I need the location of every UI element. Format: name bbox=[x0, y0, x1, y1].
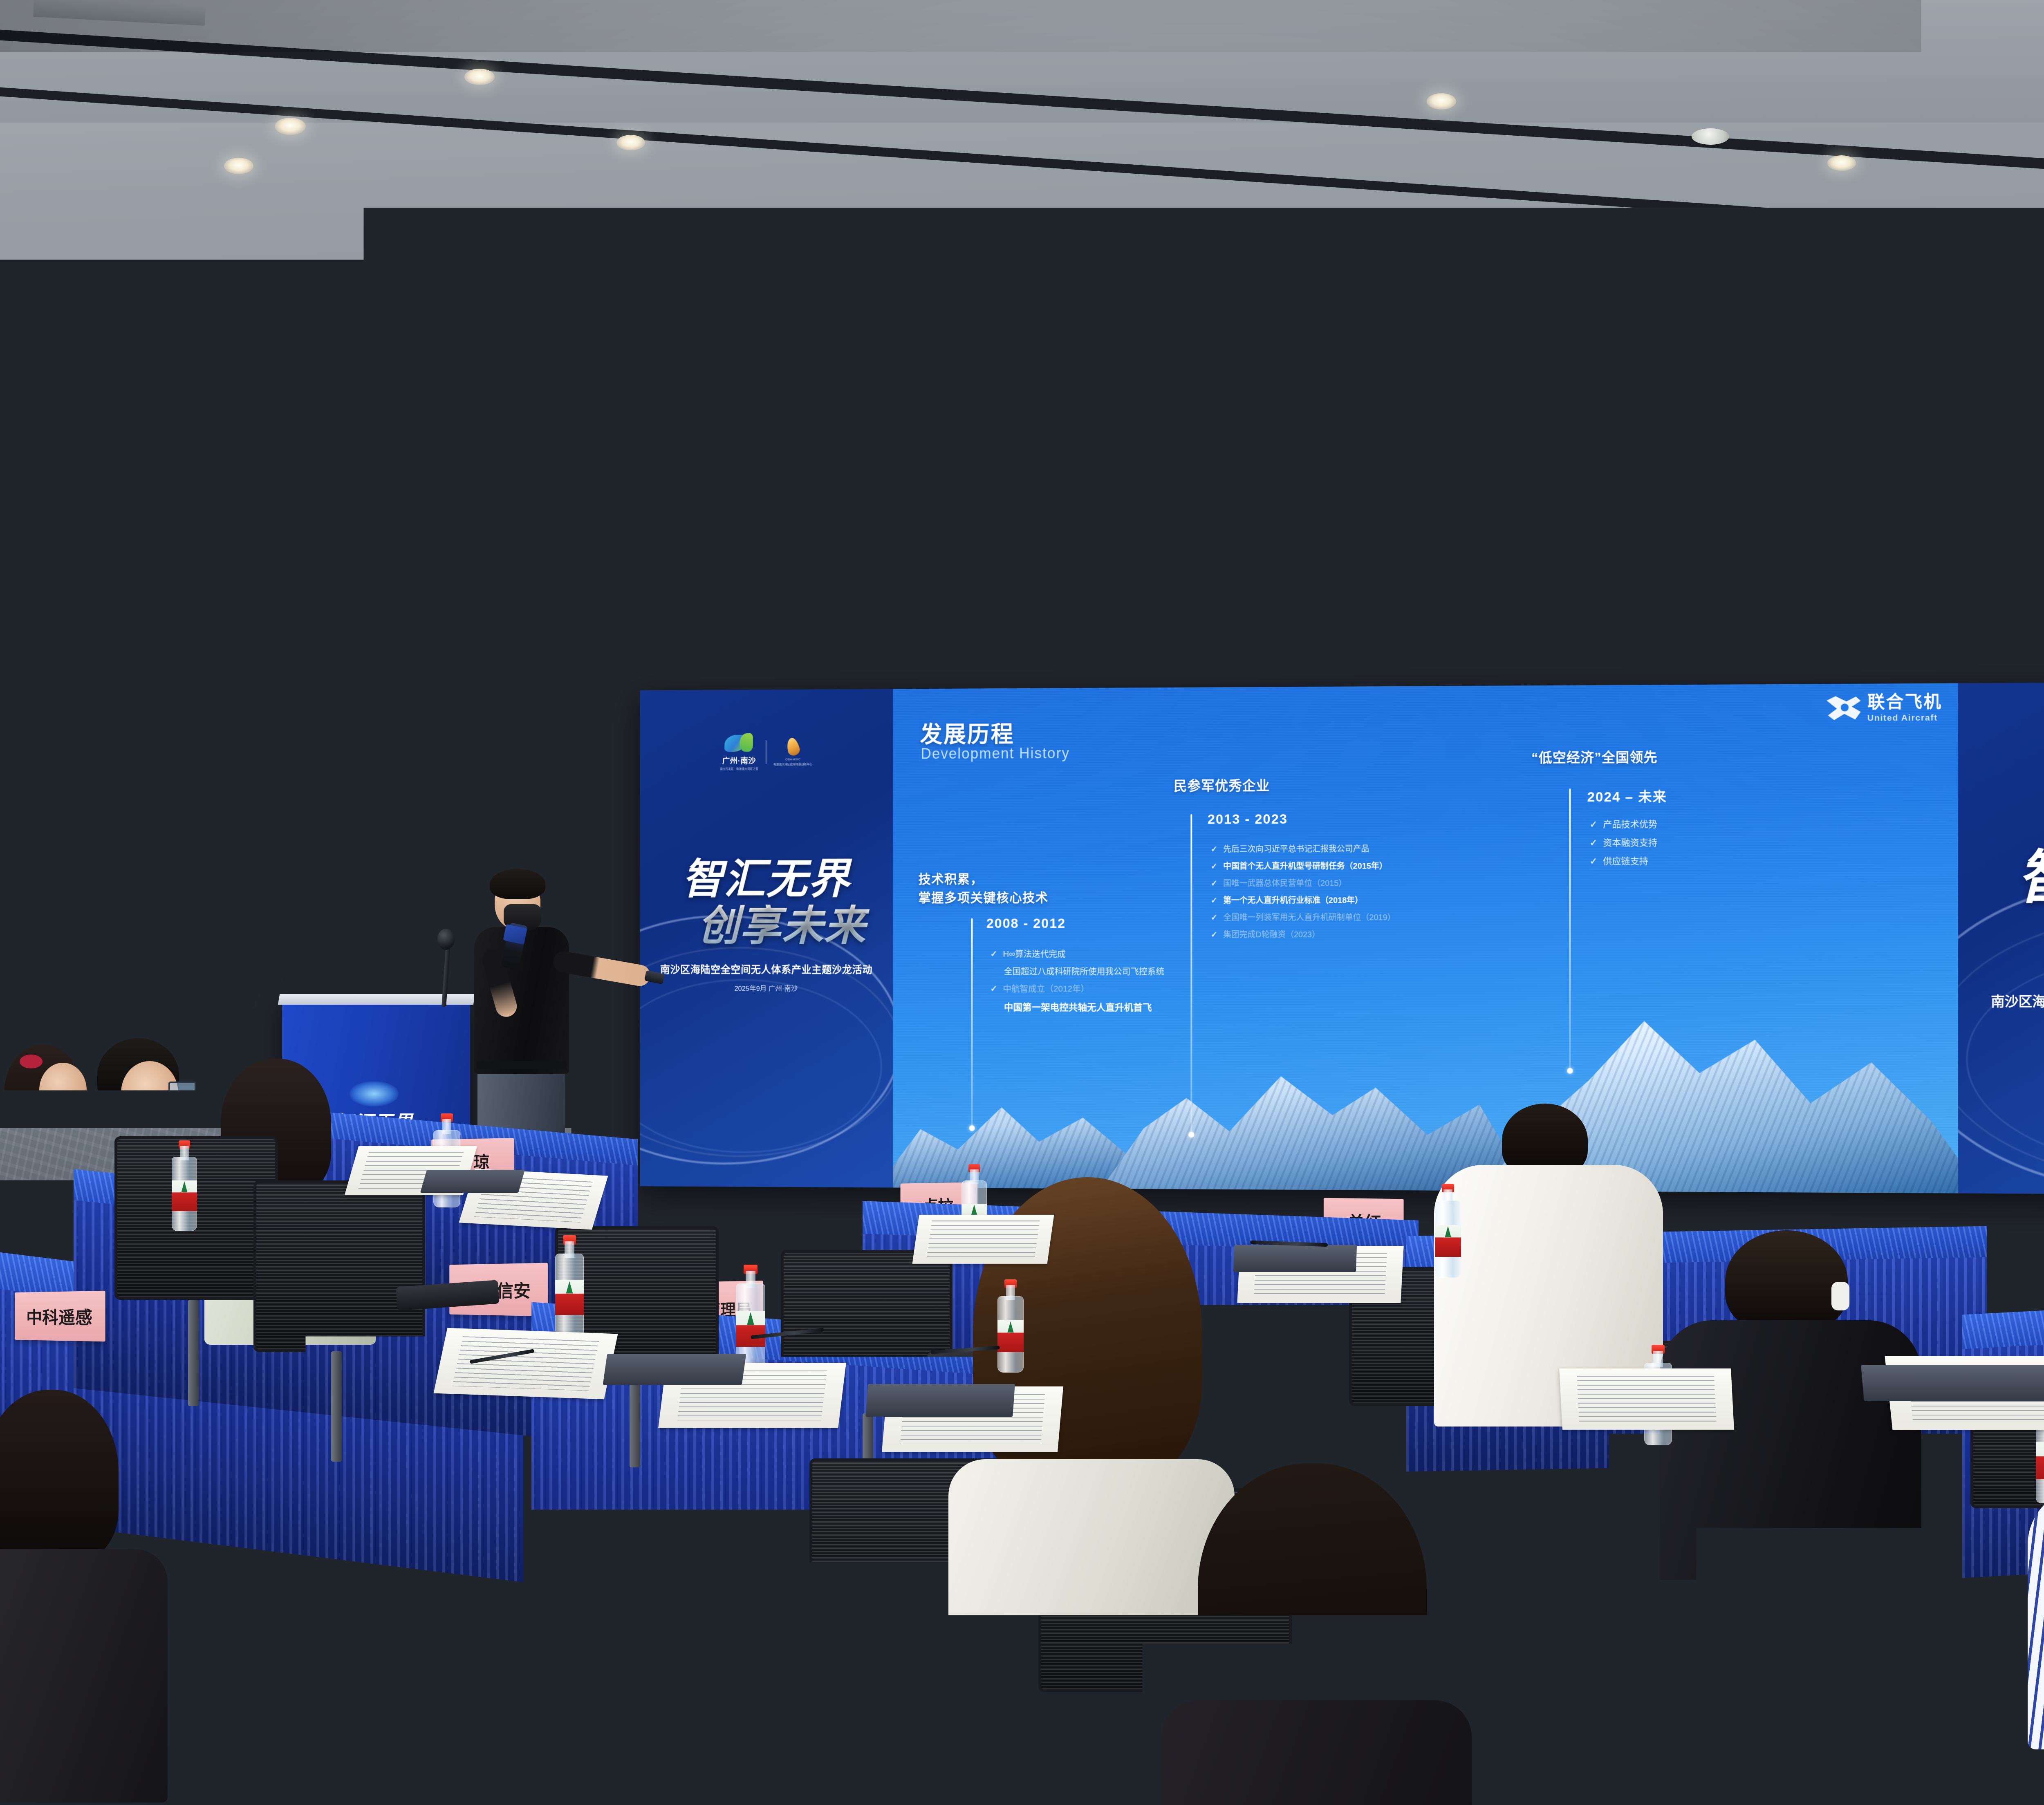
banner-title-line1: 智汇无界 bbox=[640, 858, 893, 900]
smoke-detector-icon bbox=[522, 414, 555, 428]
downlight-icon bbox=[224, 158, 253, 174]
banner-title-line2: 创享未来 bbox=[1958, 912, 2044, 971]
bullet-item: ✓产品技术优势 bbox=[1590, 817, 1657, 831]
column-2-year-range: 2013 - 2023 bbox=[1208, 811, 1288, 827]
ua-logo-cn: 联合飞机 bbox=[1867, 693, 1942, 711]
folder bbox=[420, 1170, 525, 1193]
check-icon: ✓ bbox=[1211, 878, 1218, 889]
check-icon: ✓ bbox=[1211, 861, 1218, 871]
presenter-belt bbox=[477, 1061, 567, 1069]
presentation-slide: 联合飞机 United Aircraft 发展历程 Development Hi… bbox=[893, 683, 1958, 1193]
water-bottle bbox=[997, 1279, 1024, 1373]
gba-logo-en: GBA-ASIC bbox=[785, 757, 800, 761]
folder bbox=[1233, 1245, 1357, 1272]
downlight-icon bbox=[464, 69, 495, 85]
water-bottle bbox=[555, 1235, 584, 1337]
downlight-icon bbox=[341, 291, 368, 305]
water-bottle bbox=[1304, 1324, 1331, 1422]
nansha-logo-sublabel: 南沙开发区 · 粤港澳大湾区之窗 bbox=[720, 767, 758, 771]
slide-title-en: Development History bbox=[921, 745, 1069, 762]
downlight-icon bbox=[1427, 93, 1456, 110]
conference-room-photo: 广州·南沙 南沙开发区 · 粤港澳大湾区之窗 GBA-ASIC 粤港澳大湾区应用… bbox=[0, 0, 2044, 1805]
presenter-hair bbox=[490, 869, 545, 899]
check-icon: ✓ bbox=[1211, 912, 1218, 923]
led-video-wall: 广州·南沙 南沙开发区 · 粤港澳大湾区之窗 GBA-ASIC 粤港澳大湾区应用… bbox=[640, 681, 2044, 1195]
banner-subtitle: 南沙区海陆空全空间无人体系产业主题沙龙活动 bbox=[640, 962, 893, 976]
nansha-logo-label: 广州·南沙 bbox=[722, 755, 756, 766]
downlight-icon bbox=[2010, 450, 2033, 462]
microphone-head-icon bbox=[437, 929, 455, 950]
gba-logo-cn: 粤港澳大湾区应用场景创新中心 bbox=[773, 762, 812, 766]
document bbox=[434, 1328, 618, 1400]
smoke-detector-icon bbox=[260, 441, 295, 456]
watermark: 羊城 bbox=[2038, 1435, 2044, 1778]
bullet-item: ✓集团完成D轮融资（2023） bbox=[1211, 928, 1396, 940]
gba-asic-logo: GBA-ASIC 粤港澳大湾区应用场景创新中心 bbox=[773, 737, 812, 766]
bullet-item: 中国第一架电控共轴无人直升机首飞 bbox=[991, 999, 1165, 1013]
banner-date-location: 2025年9月 广州·南沙 bbox=[1958, 1019, 2044, 1032]
downlight-icon bbox=[275, 118, 306, 135]
watermark-frame bbox=[2038, 1435, 2044, 1778]
bullet-item: ✓中航智成立（2012年） bbox=[991, 982, 1165, 994]
banner-title-line1: 智汇无界 bbox=[1958, 848, 2044, 907]
water-bottle bbox=[172, 1140, 197, 1231]
downlight-icon bbox=[1827, 155, 1856, 171]
nansha-logo: 广州·南沙 南沙开发区 · 粤港澳大湾区之窗 bbox=[720, 733, 758, 771]
column-1-bullets: ✓H∞算法迭代完成 全国超过八成科研院所使用我公司飞控系统 ✓中航智成立（201… bbox=[991, 947, 1165, 1019]
column-1-year-range: 2008 - 2012 bbox=[986, 916, 1066, 931]
column-3-heading: “低空经济”全国领先 bbox=[1531, 746, 1658, 766]
bullet-item: ✓资本融资支持 bbox=[1590, 835, 1657, 849]
column-2-bullets: ✓先后三次向习近平总书记汇报我公司产品 ✓中国首个无人直升机型号研制任务（201… bbox=[1211, 842, 1396, 945]
event-banner-right: 广州·南沙 南沙开发区 · 粤港澳大湾区之窗 GBA-ASIC 粤港澳大湾区应用… bbox=[1958, 681, 2044, 1195]
bullet-item: ✓第一个无人直升机行业标准（2018年） bbox=[1211, 894, 1396, 905]
folder bbox=[603, 1354, 746, 1385]
banner-date-location: 2025年9月 广州·南沙 bbox=[640, 983, 893, 993]
smoke-detector-icon bbox=[1692, 128, 1729, 145]
folder bbox=[1861, 1365, 2044, 1401]
column-2-heading: 民参军优秀企业 bbox=[1174, 775, 1270, 795]
swan-icon bbox=[724, 733, 754, 754]
banner-subtitle: 南沙区海陆空全空间无人体系产业主题沙龙活动 bbox=[1958, 990, 2044, 1011]
bullet-item: ✓全国唯一列装军用无人直升机研制单位（2019） bbox=[1211, 911, 1396, 923]
water-bottle bbox=[1435, 1184, 1461, 1278]
check-icon: ✓ bbox=[1590, 856, 1598, 867]
downlight-icon bbox=[1083, 339, 1109, 352]
slide-title-cn: 发展历程 bbox=[920, 716, 1014, 749]
united-aircraft-logo: 联合飞机 United Aircraft bbox=[1827, 693, 1942, 723]
check-icon: ✓ bbox=[1590, 819, 1598, 830]
folder bbox=[865, 1384, 1015, 1417]
document bbox=[1559, 1368, 1734, 1430]
check-icon: ✓ bbox=[991, 984, 997, 994]
drone-icon bbox=[350, 1081, 399, 1106]
bullet-item: ✓H∞算法迭代完成 bbox=[991, 947, 1165, 960]
event-banner-left: 广州·南沙 南沙开发区 · 粤港澳大湾区之窗 GBA-ASIC 粤港澳大湾区应用… bbox=[640, 689, 893, 1188]
downlight-icon bbox=[616, 135, 645, 150]
united-aircraft-mark-icon bbox=[1827, 696, 1860, 720]
check-icon: ✓ bbox=[1211, 844, 1218, 854]
bullet-item: 全国超过八成科研院所使用我公司飞控系统 bbox=[991, 965, 1165, 977]
bullet-item: ✓先后三次向习近平总书记汇报我公司产品 bbox=[1211, 842, 1396, 854]
downlight-icon bbox=[571, 224, 598, 239]
name-card: 中科遥感 bbox=[15, 1291, 105, 1341]
check-icon: ✓ bbox=[1211, 896, 1218, 906]
bullet-item: ✓中国首个无人直升机型号研制任务（2015年） bbox=[1211, 859, 1396, 871]
document bbox=[912, 1215, 1054, 1264]
column-1-heading-line1: 技术积累， bbox=[919, 869, 984, 887]
check-icon: ✓ bbox=[1590, 838, 1598, 848]
bullet-item: ✓国唯一武器总体民营单位（2015） bbox=[1211, 876, 1396, 888]
banner-title-line2: 创享未来 bbox=[640, 905, 893, 947]
check-icon: ✓ bbox=[991, 949, 997, 959]
ua-logo-en: United Aircraft bbox=[1867, 713, 1942, 722]
feather-icon bbox=[785, 737, 801, 757]
water-bottle bbox=[352, 1646, 388, 1780]
column-3-year-range: 2024 – 未来 bbox=[1587, 786, 1667, 806]
bullet-item: ✓供应链支持 bbox=[1590, 854, 1657, 867]
check-icon: ✓ bbox=[1211, 929, 1218, 940]
column-3-bullets: ✓产品技术优势 ✓资本融资支持 ✓供应链支持 bbox=[1590, 817, 1657, 873]
column-1-heading-line2: 掌握多项关键核心技术 bbox=[919, 887, 1049, 906]
